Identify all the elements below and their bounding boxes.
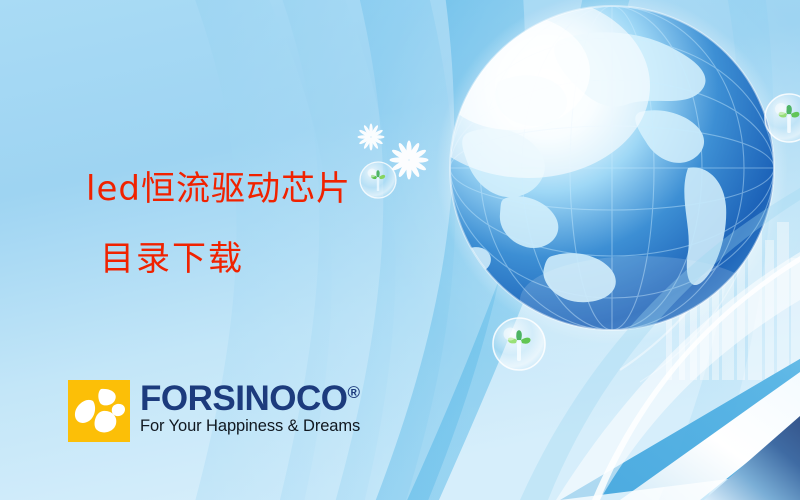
logo-tagline: For Your Happiness & Dreams [140,417,360,436]
banner-canvas: led恒流驱动芯片 目录下载 FORSINOCO® For Your Happi… [0,0,800,500]
registered-trademark-icon: ® [347,383,360,402]
logo-wordmark: FORSINOCO® [140,382,360,416]
headline-line-2: 目录下载 [100,231,244,280]
bubble-pinwheel-center [493,318,545,370]
logo-text-block: FORSINOCO® For Your Happiness & Dreams [140,382,360,436]
headline-line-1: led恒流驱动芯片 [86,163,506,216]
forsinoco-logo: FORSINOCO® For Your Happiness & Dreams [68,380,360,442]
logo-wordmark-text: FORSINOCO [140,379,347,418]
forsinoco-pinwheel-mark-icon [68,380,130,442]
